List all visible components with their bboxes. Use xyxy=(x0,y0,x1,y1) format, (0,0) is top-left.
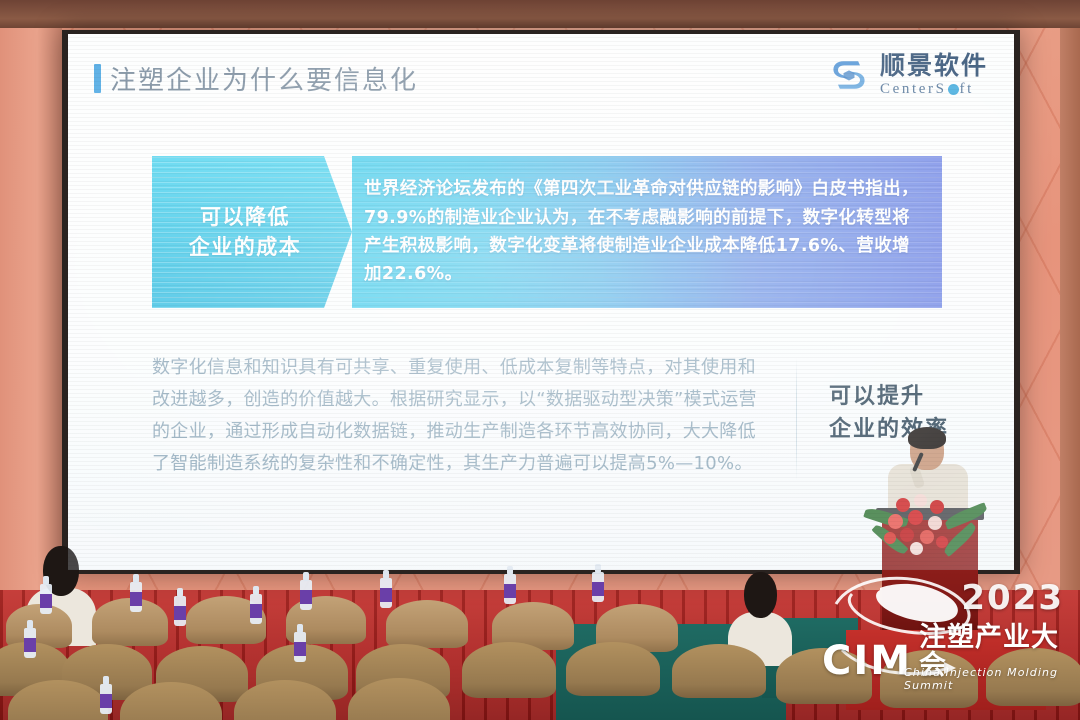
bottle-cap xyxy=(177,588,183,597)
conference-hall-scene: 注塑企业为什么要信息化 顺景软件 CenterS ft xyxy=(0,0,1080,720)
slide-header: 注塑企业为什么要信息化 xyxy=(94,60,418,97)
chair xyxy=(462,642,556,698)
logo-company-name-cn: 顺景软件 xyxy=(880,53,988,78)
banner-arrow-line1: 可以降低 xyxy=(189,202,302,232)
rose xyxy=(920,530,934,544)
water-bottle xyxy=(504,566,516,604)
event-watermark: 2023 CIM 注塑产业大会 China Injection Molding … xyxy=(820,572,1070,702)
logo-en-left: CenterS xyxy=(880,82,947,97)
bottle-cap xyxy=(595,564,601,573)
efficiency-section: 数字化信息和知识具有可共享、重复使用、低成本复制等特点，对其使用和改进越多，创造… xyxy=(152,352,952,480)
bottle-cap xyxy=(133,574,139,583)
water-bottle xyxy=(100,676,112,714)
wall-left-panel xyxy=(0,28,62,628)
logo-en-right: ft xyxy=(960,82,974,97)
title-accent-bar xyxy=(94,64,101,93)
rose xyxy=(884,532,896,544)
water-bottle xyxy=(294,624,306,662)
bottle-label xyxy=(250,604,262,618)
water-bottle xyxy=(40,576,52,614)
event-name-en: China Injection Molding Summit xyxy=(904,666,1070,692)
chair xyxy=(6,604,72,648)
bottle-label xyxy=(380,588,392,602)
speaker-hair xyxy=(908,427,946,449)
bottle-cap xyxy=(383,570,389,579)
rose xyxy=(928,516,942,530)
audience-head xyxy=(744,572,777,618)
rose xyxy=(914,494,927,507)
bottle-label xyxy=(130,592,142,606)
bottle-label xyxy=(40,594,52,608)
logo-company-name-en: CenterS ft xyxy=(880,82,988,97)
bottle-cap xyxy=(103,676,109,685)
banner-body: 世界经济论坛发布的《第四次工业革命对供应链的影响》白皮书指出，79.9%的制造业… xyxy=(352,156,942,308)
section-divider xyxy=(796,358,797,480)
water-bottle xyxy=(250,586,262,624)
rose xyxy=(908,510,923,525)
logo-text-block: 顺景软件 CenterS ft xyxy=(880,53,988,97)
efficiency-paragraph: 数字化信息和知识具有可共享、重复使用、低成本复制等特点，对其使用和改进越多，创造… xyxy=(152,352,772,480)
chair xyxy=(386,600,468,648)
water-bottle xyxy=(24,620,36,658)
bottle-label xyxy=(174,606,186,620)
bottle-label xyxy=(294,642,306,656)
banner-arrow-text: 可以降低 企业的成本 xyxy=(189,202,302,263)
rose xyxy=(930,500,944,514)
water-bottle xyxy=(130,574,142,612)
water-bottle xyxy=(592,564,604,602)
rose xyxy=(900,528,914,542)
bottle-label xyxy=(504,584,516,598)
banner-arrow-callout: 可以降低 企业的成本 xyxy=(152,156,352,308)
bottle-cap xyxy=(297,624,303,633)
logo-o-dot-icon xyxy=(948,84,959,95)
event-year: 2023 xyxy=(961,578,1064,618)
company-logo: 顺景软件 CenterS ft xyxy=(827,53,988,97)
bottle-label xyxy=(24,638,36,652)
bottle-cap xyxy=(507,566,513,575)
banner-paragraph: 世界经济论坛发布的《第四次工业革命对供应链的影响》白皮书指出，79.9%的制造业… xyxy=(364,175,924,288)
centersoft-s-logo-icon xyxy=(827,53,871,97)
bottle-label xyxy=(100,694,112,708)
efficiency-highlight-line1: 可以提升 xyxy=(829,380,949,413)
water-bottle xyxy=(380,570,392,608)
page-title: 注塑企业为什么要信息化 xyxy=(110,60,418,97)
chair xyxy=(672,644,766,698)
wall-right-panel xyxy=(1060,28,1080,628)
rose xyxy=(888,514,903,529)
bottle-cap xyxy=(43,576,49,585)
bottle-cap xyxy=(253,586,259,595)
cost-reduction-banner: 可以降低 企业的成本 世界经济论坛发布的《第四次工业革命对供应链的影响》白皮书指… xyxy=(152,156,942,308)
water-bottle xyxy=(174,588,186,626)
bottle-label xyxy=(300,590,312,604)
water-bottle xyxy=(300,572,312,610)
event-abbreviation: CIM xyxy=(822,641,912,681)
bottle-cap xyxy=(27,620,33,629)
chair xyxy=(566,642,660,696)
bottle-label xyxy=(592,582,604,596)
rose xyxy=(896,498,910,512)
banner-arrow-line2: 企业的成本 xyxy=(189,232,302,262)
bottle-cap xyxy=(303,572,309,581)
